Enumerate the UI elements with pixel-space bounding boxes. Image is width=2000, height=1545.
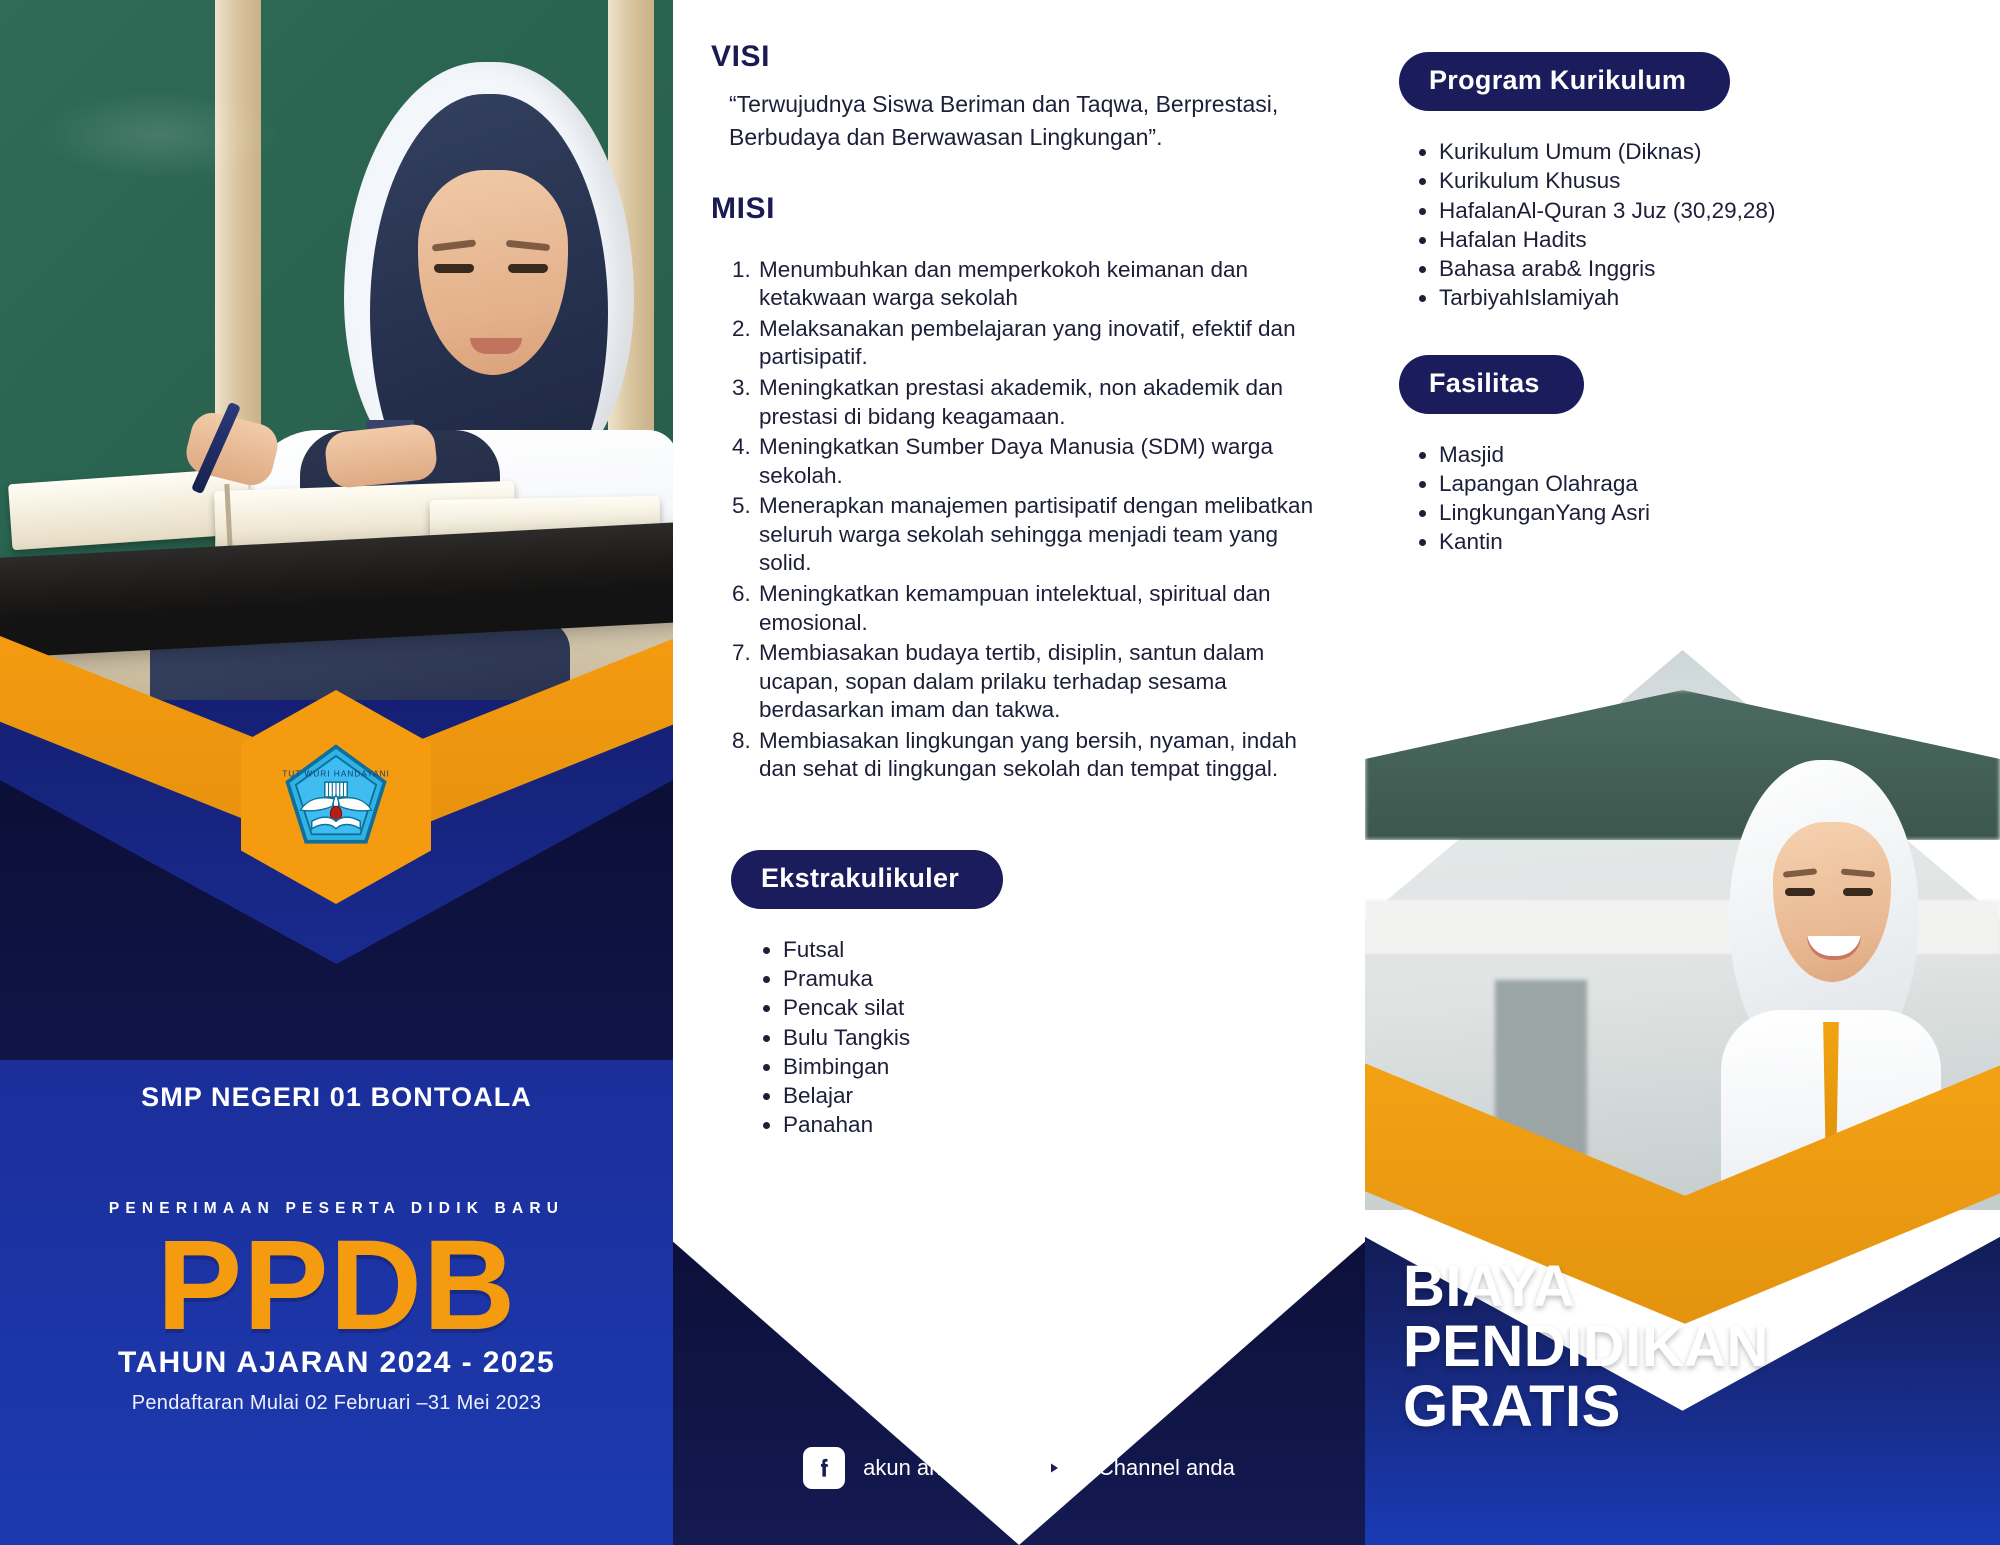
misi-item: Meningkatkan kemampuan intelektual, spir… — [757, 580, 1317, 637]
ekstrakulikuler-section: Ekstrakulikuler FutsalPramukaPencak sila… — [731, 850, 1317, 1140]
classroom-photo — [0, 0, 673, 700]
youtube-label: Channel anda — [1098, 1455, 1235, 1481]
eye-left — [434, 264, 474, 273]
fasilitas-item: LingkunganYang Asri — [1439, 498, 1980, 527]
middle-panel: VISI “Terwujudnya Siswa Beriman dan Taqw… — [673, 0, 1365, 1545]
social-links-row: akun anda Channel anda — [673, 1447, 1365, 1489]
misi-item: Membiasakan budaya tertib, disiplin, san… — [757, 639, 1317, 725]
facebook-link[interactable]: akun anda — [803, 1447, 966, 1489]
middle-content: VISI “Terwujudnya Siswa Beriman dan Taqw… — [673, 0, 1365, 1140]
ppdb-acronym: PPDB — [0, 1222, 673, 1350]
biaya-headline: BIAYAPENDIDIKANGRATIS — [1403, 1258, 1963, 1438]
fasilitas-item: Kantin — [1439, 527, 1980, 556]
left-panel: TUT WURI HANDAYANI SMP NEGERI 01 BONTOAL… — [0, 0, 673, 1545]
misi-item: Menumbuhkan dan memperkokoh keimanan dan… — [757, 256, 1317, 313]
ppdb-academic-year: TAHUN AJARAN 2024 - 2025 — [0, 1346, 673, 1380]
misi-heading: MISI — [711, 192, 1317, 226]
school-name: SMP NEGERI 01 BONTOALA — [0, 1082, 673, 1113]
brochure-page: TUT WURI HANDAYANI SMP NEGERI 01 BONTOAL… — [0, 0, 2000, 1545]
eye-right — [508, 264, 548, 273]
eye-left — [1785, 888, 1815, 896]
fasilitas-item: Lapangan Olahraga — [1439, 469, 1980, 498]
misi-item: Melaksanakan pembelajaran yang inovatif,… — [757, 315, 1317, 372]
fasilitas-item: Masjid — [1439, 440, 1980, 469]
kurikulum-item: Hafalan Hadits — [1439, 225, 1980, 254]
kurikulum-heading-pill: Program Kurikulum — [1399, 52, 1730, 111]
kurikulum-item: Kurikulum Khusus — [1439, 166, 1980, 195]
kurikulum-item: HafalanAl-Quran 3 Juz (30,29,28) — [1439, 196, 1980, 225]
visi-heading: VISI — [711, 40, 1317, 74]
fasilitas-list: MasjidLapangan OlahragaLingkunganYang As… — [1439, 440, 1980, 557]
ekstrakulikuler-heading-pill: Ekstrakulikuler — [731, 850, 1003, 909]
misi-item: Meningkatkan prestasi akademik, non akad… — [757, 374, 1317, 431]
misi-list: Menumbuhkan dan memperkokoh keimanan dan… — [757, 256, 1317, 784]
youtube-icon[interactable] — [1028, 1449, 1080, 1487]
ekstrakulikuler-item: Bulu Tangkis — [783, 1023, 1317, 1052]
headline-line: BIAYA — [1403, 1258, 1963, 1316]
svg-text:TUT WURI HANDAYANI: TUT WURI HANDAYANI — [282, 768, 390, 778]
ekstrakulikuler-item: Futsal — [783, 935, 1317, 964]
logo-hexagon: TUT WURI HANDAYANI — [241, 690, 431, 904]
misi-item: Menerapkan manajemen partisipatif dengan… — [757, 492, 1317, 578]
youtube-link[interactable]: Channel anda — [1028, 1449, 1235, 1487]
right-panel: Program Kurikulum Kurikulum Umum (Diknas… — [1365, 0, 2000, 1545]
ekstrakulikuler-item: Bimbingan — [783, 1052, 1317, 1081]
facebook-icon[interactable] — [803, 1447, 845, 1489]
right-top-content: Program Kurikulum Kurikulum Umum (Diknas… — [1365, 0, 2000, 557]
ppdb-block: PENERIMAAN PESERTA DIDIK BARU PPDB TAHUN… — [0, 1200, 673, 1415]
chalk-smudge — [40, 90, 280, 180]
ekstrakulikuler-item: Panahan — [783, 1110, 1317, 1139]
headline-line: GRATIS — [1403, 1378, 1963, 1436]
misi-item: Membiasakan lingkungan yang bersih, nyam… — [757, 727, 1317, 784]
ekstrakulikuler-item: Belajar — [783, 1081, 1317, 1110]
kurikulum-item: Kurikulum Umum (Diknas) — [1439, 137, 1980, 166]
mouth — [470, 338, 522, 354]
headline-line: PENDIDIKAN — [1403, 1318, 1963, 1376]
ekstrakulikuler-item: Pencak silat — [783, 993, 1317, 1022]
kurikulum-list: Kurikulum Umum (Diknas)Kurikulum KhususH… — [1439, 137, 1980, 313]
visi-text: “Terwujudnya Siswa Beriman dan Taqwa, Be… — [729, 88, 1317, 154]
eye-right — [1843, 888, 1873, 896]
ekstrakulikuler-list: FutsalPramukaPencak silatBulu TangkisBim… — [783, 935, 1317, 1140]
ppdb-registration-dates: Pendaftaran Mulai 02 Februari –31 Mei 20… — [0, 1392, 673, 1415]
misi-item: Meningkatkan Sumber Daya Manusia (SDM) w… — [757, 433, 1317, 490]
tut-wuri-handayani-logo: TUT WURI HANDAYANI — [280, 741, 392, 853]
ekstrakulikuler-item: Pramuka — [783, 964, 1317, 993]
facebook-label: akun anda — [863, 1455, 966, 1481]
fasilitas-heading-pill: Fasilitas — [1399, 355, 1584, 414]
kurikulum-item: TarbiyahIslamiyah — [1439, 283, 1980, 312]
kurikulum-item: Bahasa arab& Inggris — [1439, 254, 1980, 283]
